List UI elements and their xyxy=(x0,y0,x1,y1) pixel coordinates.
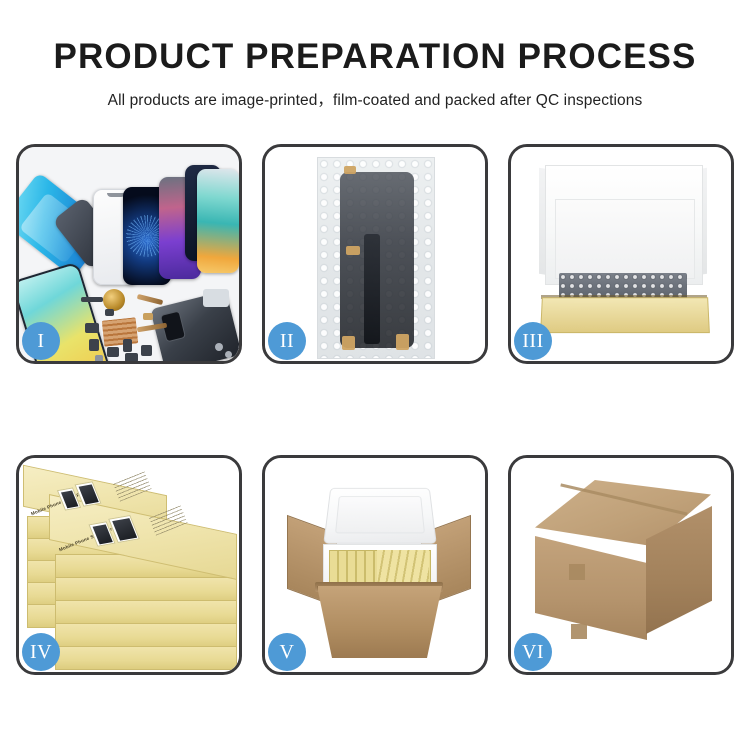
stacked-box-front-3 xyxy=(55,600,237,625)
tool-piece xyxy=(203,289,229,307)
page-title: PRODUCT PREPARATION PROCESS xyxy=(0,38,750,77)
part-piece-7 xyxy=(105,309,114,316)
process-step-panel-4: Mobile Phone Spare Parts Mobile Phone Sp… xyxy=(16,455,242,675)
part-piece-5 xyxy=(125,353,138,361)
process-step-panel-3: III xyxy=(508,144,734,364)
step-badge-3: III xyxy=(514,322,552,360)
part-piece-8 xyxy=(143,313,153,320)
step-badge-5: V xyxy=(268,633,306,671)
part-piece-6 xyxy=(141,345,152,356)
stacked-box-front-5 xyxy=(55,646,237,670)
screw-2 xyxy=(225,351,232,358)
part-piece-1 xyxy=(85,323,99,333)
part-strip xyxy=(81,297,103,302)
tape-middle xyxy=(346,246,360,255)
bubble-wrap-bag xyxy=(317,157,435,359)
process-step-panel-2: II xyxy=(262,144,488,364)
page-subtitle: All products are image-printed，film-coat… xyxy=(0,88,750,110)
tape-top xyxy=(344,166,356,174)
carton-tape-upper xyxy=(569,564,585,580)
part-piece-2 xyxy=(89,339,99,351)
page-header: PRODUCT PREPARATION PROCESS All products… xyxy=(0,0,750,110)
screw-1 xyxy=(215,343,223,351)
foam-lid-inner xyxy=(555,199,695,279)
tape-bottom-left xyxy=(342,336,355,350)
step-badge-2: II xyxy=(268,322,306,360)
logic-board-chip xyxy=(102,317,139,346)
flex-cable-1 xyxy=(137,294,163,305)
process-step-panel-1: I xyxy=(16,144,242,364)
process-step-grid: I II III xyxy=(16,144,734,675)
part-piece-3 xyxy=(107,347,119,357)
tape-bottom-right xyxy=(396,334,409,350)
part-piece-4 xyxy=(123,339,132,352)
stacked-box-front-4 xyxy=(55,623,237,648)
carton-tape-lower xyxy=(571,624,587,639)
carton-left-face xyxy=(535,536,647,640)
step-badge-6: VI xyxy=(514,633,552,671)
box-front-face xyxy=(540,297,710,333)
step-badge-4: IV xyxy=(22,633,60,671)
process-step-panel-5: V xyxy=(262,455,488,675)
teal-orange-phone xyxy=(197,169,239,273)
step-badge-1: I xyxy=(22,322,60,360)
wrapped-flex-cable xyxy=(364,234,380,344)
process-step-panel-6: VI xyxy=(508,455,734,675)
speaker-coil-part xyxy=(103,289,125,311)
carton-body xyxy=(317,586,442,658)
foam-box-lid xyxy=(323,488,437,544)
part-piece-9 xyxy=(95,355,103,361)
stacked-box-front-2 xyxy=(55,577,237,602)
